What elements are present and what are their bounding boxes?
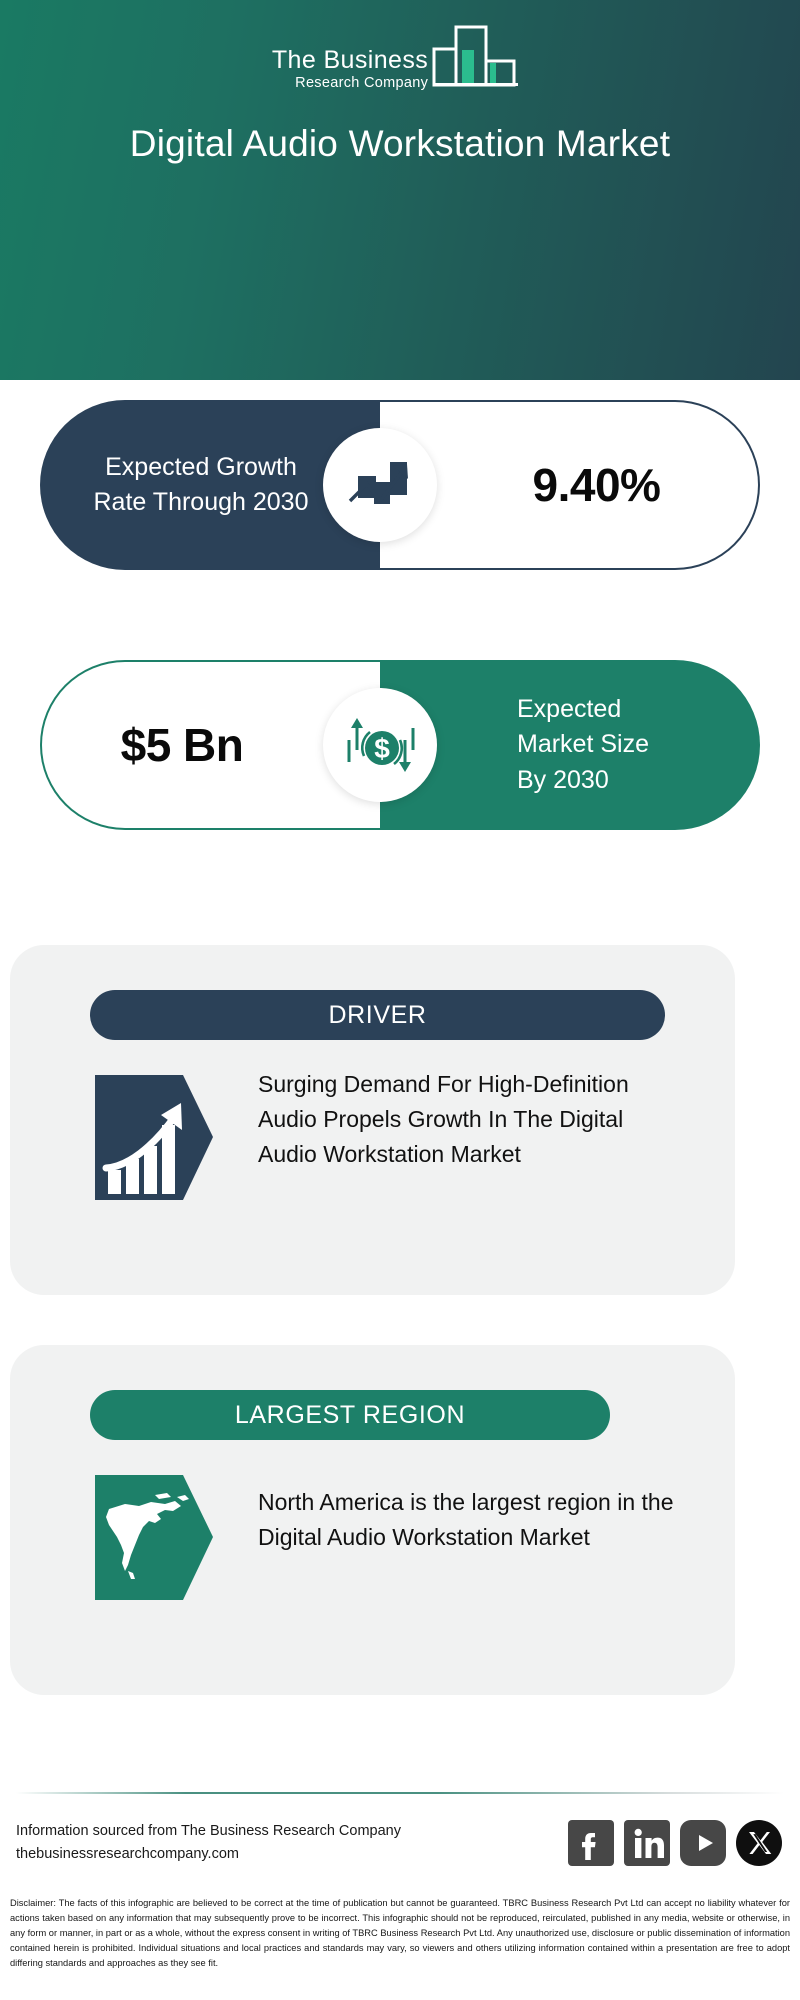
footer-divider (16, 1792, 784, 1794)
stat-card-market-size: $5 Bn Expected Market Size By 2030 $ (40, 660, 760, 830)
infographic-page: The Business Research Company Digital Au… (0, 0, 800, 2000)
stat-market-label-panel: Expected Market Size By 2030 (380, 660, 760, 830)
linkedin-icon[interactable] (624, 1820, 670, 1866)
driver-panel: DRIVER Surging Demand For High-Definitio… (10, 945, 735, 1295)
stat-market-label: Expected Market Size By 2030 (465, 692, 675, 799)
company-logo[interactable]: The Business Research Company (272, 22, 528, 94)
north-america-map-icon (95, 1475, 213, 1600)
dollar-circular-arrows-icon: $ (323, 688, 437, 802)
stat-growth-value-panel: 9.40% (380, 400, 760, 570)
footer-source-line-2[interactable]: thebusinessresearchcompany.com (16, 1843, 496, 1866)
social-links (568, 1820, 782, 1866)
stat-market-value: $5 Bn (121, 718, 302, 772)
x-twitter-icon[interactable] (736, 1820, 782, 1866)
driver-pill-label: DRIVER (328, 1001, 426, 1030)
youtube-icon[interactable] (680, 1820, 726, 1866)
logo-wordmark: The Business Research Company (272, 47, 428, 94)
largest-region-panel: LARGEST REGION North America is the larg… (10, 1345, 735, 1695)
driver-description: Surging Demand For High-Definition Audio… (258, 1067, 678, 1172)
driver-pill: DRIVER (90, 990, 665, 1040)
disclaimer-text: Disclaimer: The facts of this infographi… (10, 1896, 790, 1971)
bar-chart-logo-mark-icon (432, 17, 528, 94)
stat-card-growth-rate: Expected Growth Rate Through 2030 9.40% (40, 400, 760, 570)
largest-region-pill: LARGEST REGION (90, 1390, 610, 1440)
logo-line-2: Research Company (295, 75, 428, 92)
footer-source: Information sourced from The Business Re… (16, 1820, 496, 1866)
stat-growth-value: 9.40% (478, 458, 661, 512)
footer-source-line-1: Information sourced from The Business Re… (16, 1820, 496, 1843)
header-banner: The Business Research Company Digital Au… (0, 0, 800, 380)
page-title: Digital Audio Workstation Market (70, 120, 730, 167)
stat-growth-label: Expected Growth Rate Through 2030 (93, 450, 328, 521)
logo-line-1: The Business (272, 47, 428, 73)
largest-region-pill-label: LARGEST REGION (235, 1401, 465, 1430)
growth-chart-arrow-icon (323, 428, 437, 542)
largest-region-description: North America is the largest region in t… (258, 1485, 678, 1555)
svg-text:$: $ (374, 733, 390, 764)
bar-chart-rising-arrow-icon (95, 1075, 213, 1200)
facebook-icon[interactable] (568, 1820, 614, 1866)
